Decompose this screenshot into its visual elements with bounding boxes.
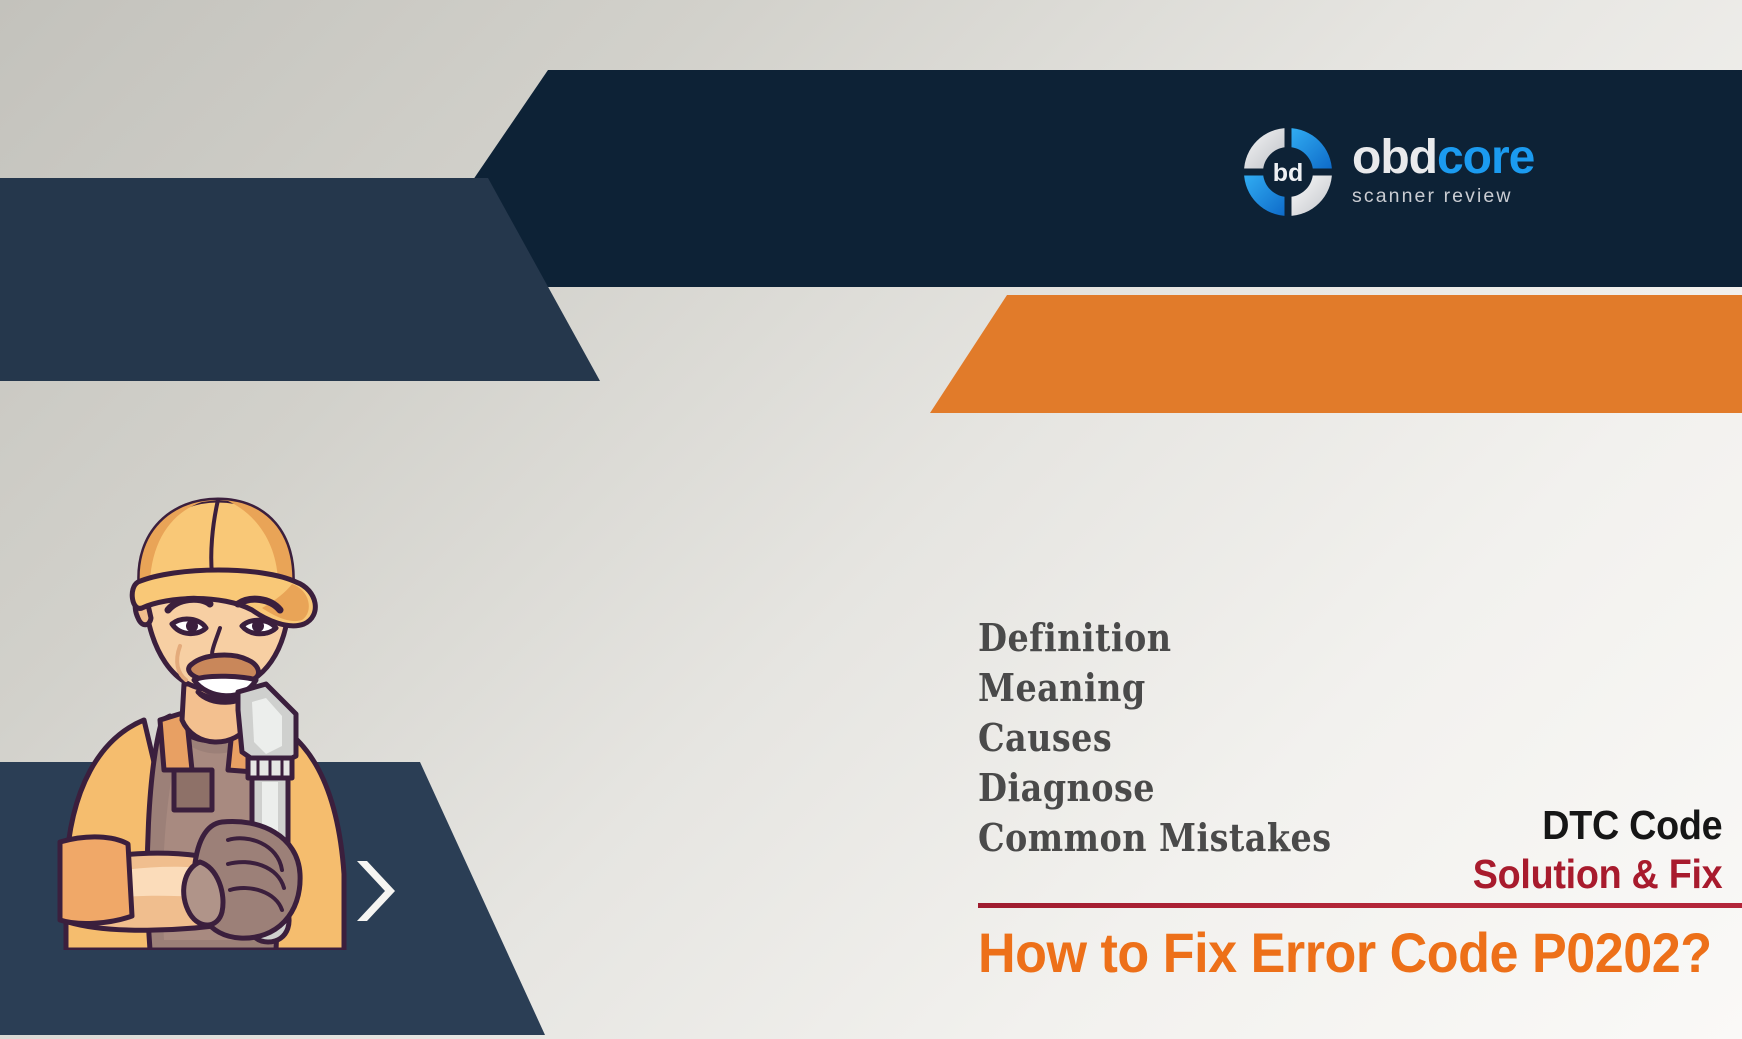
obd-ring-icon: bd: [1238, 122, 1338, 222]
orange-diagonal-band: [930, 295, 1742, 413]
navy-diagonal-band: [400, 70, 1742, 287]
topic-item: Causes: [978, 713, 1331, 763]
solution-fix-label: Solution & Fix: [1472, 854, 1722, 895]
page-title: How to Fix Error Code P0202?: [978, 920, 1712, 985]
topic-item: Definition: [978, 613, 1331, 663]
topic-item: Diagnose: [978, 763, 1331, 813]
mechanic-mascot-icon: [52, 470, 382, 950]
brand-name-part-1: obd: [1352, 131, 1437, 184]
dtc-label-block: DTC Code Solution & Fix: [1451, 805, 1722, 895]
topic-item: Meaning: [978, 663, 1331, 713]
banner-canvas: bd obdcore scanner review: [0, 0, 1742, 1039]
brand-name-part-2: core: [1437, 131, 1534, 184]
dtc-code-label: DTC Code: [1472, 805, 1722, 846]
svg-text:bd: bd: [1273, 159, 1304, 187]
topic-item: Common Mistakes: [978, 813, 1331, 863]
brand-tagline: scanner review: [1352, 187, 1534, 207]
brand-logo[interactable]: bd obdcore scanner review: [1238, 120, 1516, 224]
horizontal-rule: [978, 903, 1742, 908]
brand-wordmark: obdcore scanner review: [1352, 134, 1534, 211]
topic-list: Definition Meaning Causes Diagnose Commo…: [978, 613, 1380, 863]
